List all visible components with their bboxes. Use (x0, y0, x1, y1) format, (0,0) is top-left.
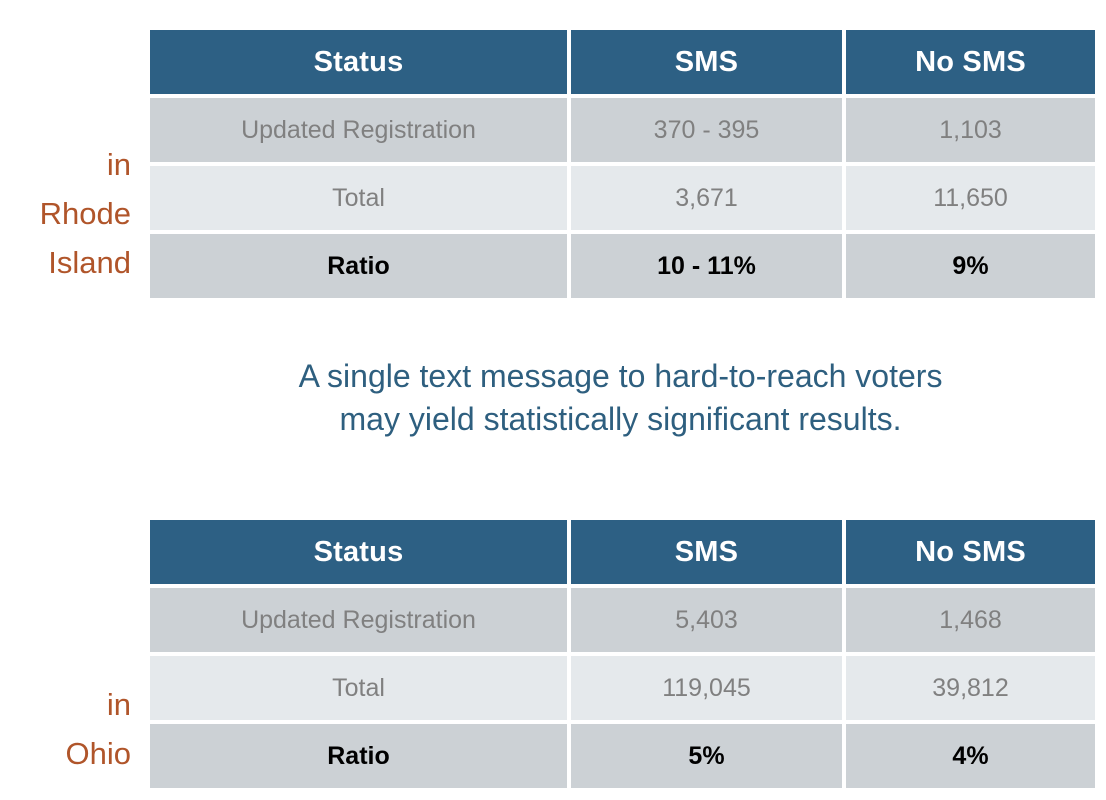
cell-sms: 3,671 (571, 166, 842, 230)
column-header-status: Status (150, 30, 567, 94)
column-header-no-sms: No SMS (846, 520, 1095, 584)
caption-line-2: may yield statistically significant resu… (146, 398, 1095, 441)
column-header-sms: SMS (571, 30, 842, 94)
cell-sms: 119,045 (571, 656, 842, 720)
cell-status: Ratio (150, 724, 567, 788)
column-header-sms: SMS (571, 520, 842, 584)
cell-sms: 5% (571, 724, 842, 788)
caption-text: A single text message to hard-to-reach v… (146, 355, 1095, 441)
table-ohio: Status SMS No SMS Updated Registration 5… (146, 516, 1099, 792)
cell-status: Updated Registration (150, 588, 567, 652)
cell-sms: 370 - 395 (571, 98, 842, 162)
table-header-row: Status SMS No SMS (150, 30, 1095, 94)
cell-no-sms: 11,650 (846, 166, 1095, 230)
cell-status: Total (150, 656, 567, 720)
caption-line-1: A single text message to hard-to-reach v… (146, 355, 1095, 398)
side-label-rhode-island: in Rhode Island (0, 140, 131, 287)
table-row: Total 3,671 11,650 (150, 166, 1095, 230)
table-row: Ratio 5% 4% (150, 724, 1095, 788)
cell-sms: 5,403 (571, 588, 842, 652)
slide-root: in Rhode Island Status SMS No SMS Update… (0, 0, 1106, 800)
cell-sms: 10 - 11% (571, 234, 842, 298)
table-rhode-island-body: Updated Registration 370 - 395 1,103 Tot… (150, 98, 1095, 298)
cell-no-sms: 9% (846, 234, 1095, 298)
side-label-ohio: in Ohio (0, 680, 131, 778)
table-header-row: Status SMS No SMS (150, 520, 1095, 584)
column-header-no-sms: No SMS (846, 30, 1095, 94)
table-rhode-island: Status SMS No SMS Updated Registration 3… (146, 26, 1099, 302)
cell-no-sms: 39,812 (846, 656, 1095, 720)
column-header-status: Status (150, 520, 567, 584)
table-row: Ratio 10 - 11% 9% (150, 234, 1095, 298)
cell-status: Total (150, 166, 567, 230)
table-ohio-head: Status SMS No SMS (150, 520, 1095, 584)
cell-status: Ratio (150, 234, 567, 298)
cell-no-sms: 1,103 (846, 98, 1095, 162)
table-row: Total 119,045 39,812 (150, 656, 1095, 720)
cell-status: Updated Registration (150, 98, 567, 162)
cell-no-sms: 4% (846, 724, 1095, 788)
table-row: Updated Registration 5,403 1,468 (150, 588, 1095, 652)
cell-no-sms: 1,468 (846, 588, 1095, 652)
table-ohio-body: Updated Registration 5,403 1,468 Total 1… (150, 588, 1095, 788)
table-rhode-island-head: Status SMS No SMS (150, 30, 1095, 94)
table-row: Updated Registration 370 - 395 1,103 (150, 98, 1095, 162)
